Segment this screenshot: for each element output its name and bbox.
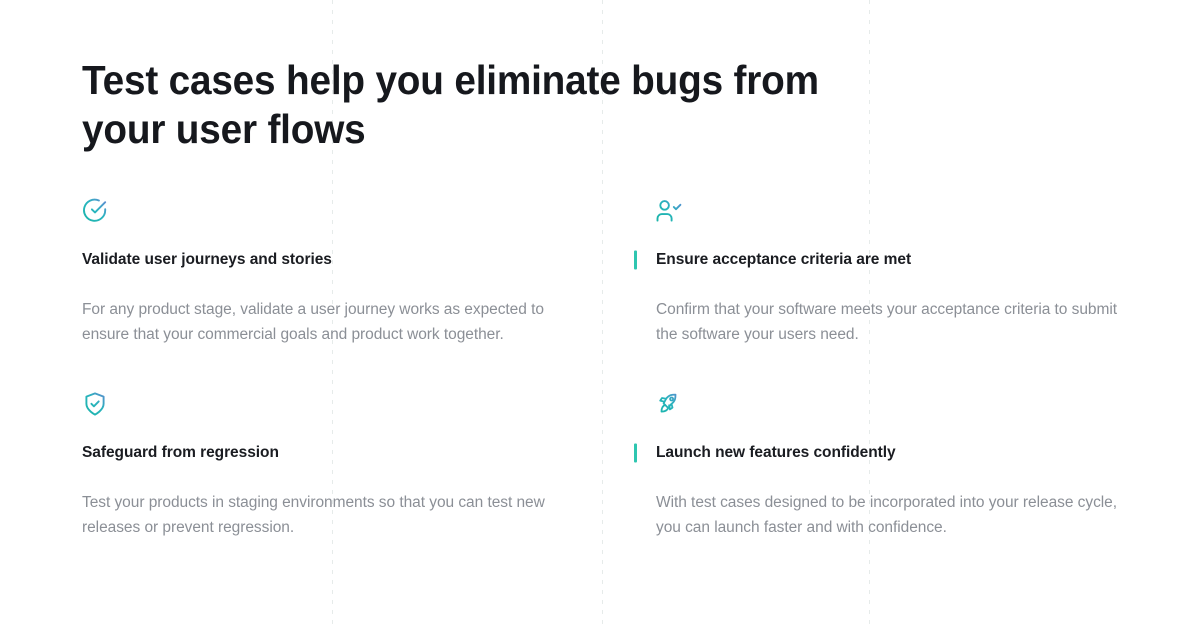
feature-title-row: Validate user journeys and stories bbox=[82, 250, 620, 270]
feature-description: Test your products in staging environmen… bbox=[82, 490, 582, 540]
feature-title: Safeguard from regression bbox=[82, 443, 279, 463]
feature-section: Test cases help you eliminate bugs from … bbox=[0, 0, 1200, 630]
feature-card-launch-features: Launch new features confidently With tes… bbox=[620, 391, 1130, 584]
shield-check-icon bbox=[82, 391, 108, 417]
feature-description: For any product stage, validate a user j… bbox=[82, 297, 582, 347]
accent-bar bbox=[634, 251, 637, 270]
feature-description: Confirm that your software meets your ac… bbox=[656, 297, 1130, 347]
feature-title: Ensure acceptance criteria are met bbox=[656, 250, 911, 270]
feature-grid: Validate user journeys and stories For a… bbox=[82, 198, 1130, 584]
feature-description: With test cases designed to be incorpora… bbox=[656, 490, 1130, 540]
feature-card-validate-user-journeys: Validate user journeys and stories For a… bbox=[82, 198, 620, 391]
feature-title-row: Safeguard from regression bbox=[82, 443, 620, 463]
circle-check-icon bbox=[82, 198, 108, 224]
feature-title: Launch new features confidently bbox=[656, 443, 896, 463]
rocket-icon bbox=[656, 391, 682, 417]
feature-title-row: Ensure acceptance criteria are met bbox=[656, 250, 1130, 270]
feature-card-safeguard-regression: Safeguard from regression Test your prod… bbox=[82, 391, 620, 584]
user-check-icon bbox=[656, 198, 682, 224]
feature-card-acceptance-criteria: Ensure acceptance criteria are met Confi… bbox=[620, 198, 1130, 391]
feature-title: Validate user journeys and stories bbox=[82, 250, 332, 270]
page-title: Test cases help you eliminate bugs from … bbox=[82, 56, 829, 154]
feature-title-row: Launch new features confidently bbox=[656, 443, 1130, 463]
accent-bar bbox=[634, 444, 637, 463]
